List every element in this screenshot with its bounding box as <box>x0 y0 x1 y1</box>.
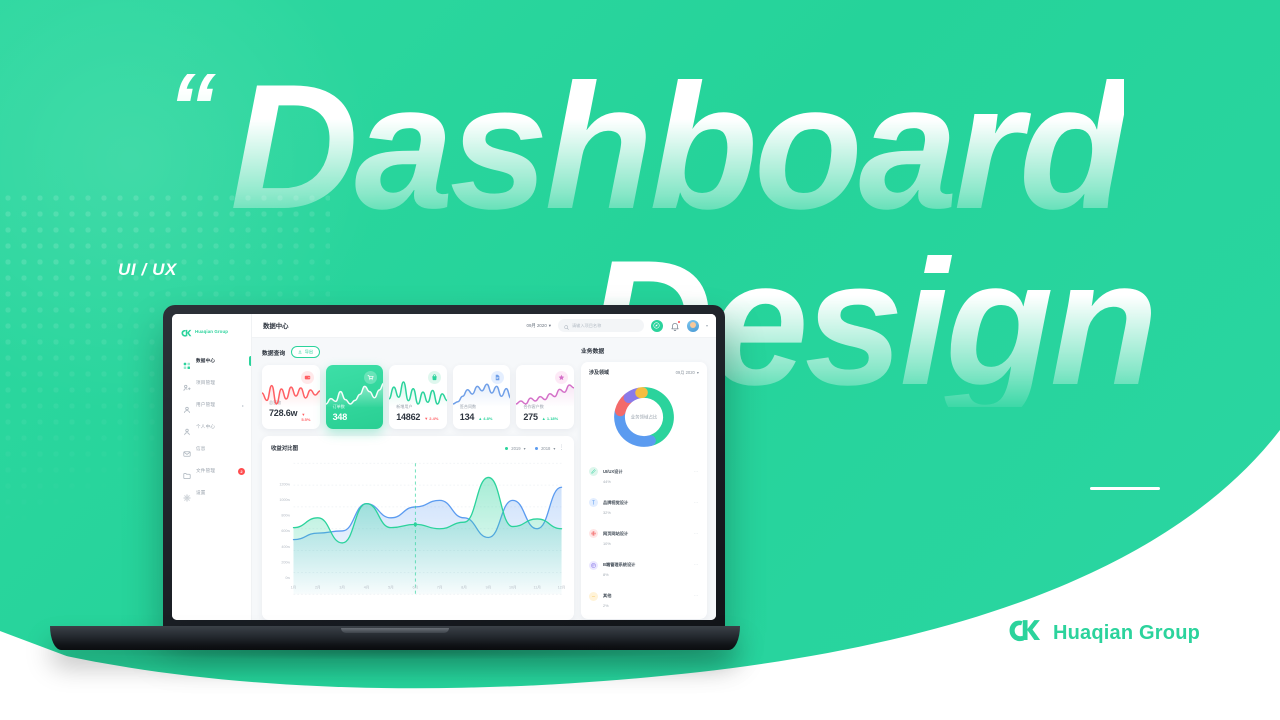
eyebrow-label: UI / UX <box>118 260 177 280</box>
domain-legend-meta: 网页网站设计 10% <box>603 522 628 546</box>
kpi-footer: 签合同数 134 ▲ 4.8% <box>460 404 504 429</box>
date-selector-label: 09月 2020 <box>527 323 547 329</box>
ellipsis-icon[interactable]: ⋯ <box>694 531 699 537</box>
person-icon <box>183 423 191 431</box>
domain-legend-list: UI/UX设计 44% ⋯ 品牌视觉设计 32% ⋯ 网页网站设计 10% ⋯ … <box>589 456 699 612</box>
brand-name: Huaqian Group <box>1053 622 1200 645</box>
search-icon <box>564 317 569 335</box>
domain-card-header: 涉及领域 09月 2020 ▾ <box>589 369 699 376</box>
laptop-lid: Huaqian Group 数据中心项目管理用户管理▸个人中心信息文件管理2设置… <box>163 305 725 630</box>
domain-legend-percent: 44% <box>603 479 623 484</box>
domain-legend-label: 品牌视觉设计 <box>603 500 628 505</box>
right-panel-title: 业务数据 <box>581 346 707 355</box>
domain-card-date-selector[interactable]: 09月 2020 ▾ <box>676 370 699 376</box>
domain-card-date-label: 09月 2020 <box>676 370 695 376</box>
kpi-sparkline <box>262 379 320 407</box>
svg-text:0w: 0w <box>285 576 290 580</box>
sidebar-item-1[interactable]: 数据中心 <box>172 350 251 372</box>
sidebar-item-7[interactable]: 设置 <box>172 482 251 504</box>
sidebar-badge: 2 <box>238 468 245 475</box>
mail-icon <box>183 445 191 453</box>
domain-legend-percent: 2% <box>603 603 611 608</box>
kpi-value: 14862 <box>396 412 420 422</box>
domain-legend-label: 其他 <box>603 593 611 598</box>
sidebar-nav: 数据中心项目管理用户管理▸个人中心信息文件管理2设置 <box>172 350 251 504</box>
system-icon <box>589 561 598 570</box>
web-icon <box>589 529 598 538</box>
export-button-label: 导出 <box>305 349 313 355</box>
kpi-value-row: 134 ▲ 4.8% <box>460 412 504 422</box>
svg-text:11月: 11月 <box>533 585 540 590</box>
grid-icon <box>183 357 191 365</box>
export-icon <box>298 350 302 355</box>
svg-text:1000w: 1000w <box>279 498 290 502</box>
domain-legend-percent: 10% <box>603 541 628 546</box>
sidebar-item-label: 用户管理 <box>196 402 215 408</box>
kpi-card-5[interactable]: 合作客户数 275 ▲ 1.18% <box>516 365 574 429</box>
legend-label: 2018 <box>541 446 550 451</box>
domain-legend-label: 网页网站设计 <box>603 531 628 536</box>
ellipsis-icon[interactable]: ⋯ <box>694 593 699 599</box>
ck-logo-icon <box>181 326 192 336</box>
kpi-footer: 新增用户 14862 ▼ 2.4% <box>396 404 440 429</box>
app-main: 数据中心 09月 2020 ▾ 请输入项目名称 <box>252 314 716 620</box>
chart-title: 收益对比图 <box>271 444 298 452</box>
kpi-value: 348 <box>333 412 347 422</box>
svg-text:7月: 7月 <box>437 585 443 590</box>
kpi-value: 134 <box>460 412 474 422</box>
ellipsis-icon[interactable]: ⋯ <box>694 500 699 506</box>
svg-text:9月: 9月 <box>486 585 492 590</box>
date-selector[interactable]: 09月 2020 ▾ <box>527 323 551 329</box>
ck-logo-icon <box>1008 618 1042 648</box>
svg-text:12月: 12月 <box>558 585 565 590</box>
active-indicator <box>249 356 252 366</box>
legend-swatch <box>505 447 508 450</box>
svg-text:10月: 10月 <box>509 585 517 590</box>
domain-legend-meta: UI/UX设计 44% <box>603 460 623 484</box>
chevron-right-icon: ▸ <box>242 403 244 408</box>
app-sidebar: Huaqian Group 数据中心项目管理用户管理▸个人中心信息文件管理2设置 <box>172 314 252 620</box>
kpi-value-row: 728.6w ▼ 5.5% <box>269 408 313 422</box>
domain-legend-percent: 8% <box>603 572 635 577</box>
pen-icon <box>589 467 598 476</box>
revenue-chart-card: 收益对比图 2019▾2018▾ ⋮ 0w200w400w600w800w100… <box>262 436 574 620</box>
domain-card-title: 涉及领域 <box>589 369 609 376</box>
svg-text:2月: 2月 <box>315 585 321 590</box>
sidebar-item-2[interactable]: 项目管理 <box>172 372 251 394</box>
domain-legend-row-2[interactable]: 品牌视觉设计 32% ⋯ <box>589 487 699 518</box>
app-logo[interactable]: Huaqian Group <box>172 323 251 350</box>
sidebar-item-label: 数据中心 <box>196 358 215 364</box>
domain-legend-label: B端管理系统设计 <box>603 562 635 567</box>
brand-icon <box>589 498 598 507</box>
domain-legend-meta: B端管理系统设计 8% <box>603 553 635 577</box>
chart-header: 收益对比图 2019▾2018▾ ⋮ <box>271 444 565 452</box>
domain-legend-row-3[interactable]: 网页网站设计 10% ⋯ <box>589 518 699 549</box>
laptop-mockup: Huaqian Group 数据中心项目管理用户管理▸个人中心信息文件管理2设置… <box>50 305 740 650</box>
kpi-card-1[interactable]: 总营收 728.6w ▼ 5.5% <box>262 365 320 429</box>
kpi-value-row: 275 ▲ 1.18% <box>523 412 567 422</box>
left-column: 数据查询 导出 总营收 <box>262 346 574 620</box>
chart-legend: 2019▾2018▾ <box>505 446 556 451</box>
chevron-down-icon: ▾ <box>549 323 551 329</box>
kpi-card-4[interactable]: 签合同数 134 ▲ 4.8% <box>453 365 511 429</box>
kpi-value-row: 14862 ▼ 2.4% <box>396 412 440 422</box>
brand-lockup: Huaqian Group <box>1008 618 1200 648</box>
domain-legend-label: UI/UX设计 <box>603 469 623 474</box>
ellipsis-icon[interactable]: ⋯ <box>694 562 699 568</box>
chevron-down-icon[interactable]: ▾ <box>706 323 708 328</box>
domain-legend-row-1[interactable]: UI/UX设计 44% ⋯ <box>589 456 699 487</box>
domain-legend-row-4[interactable]: B端管理系统设计 8% ⋯ <box>589 550 699 581</box>
app-content: 数据查询 导出 总营收 <box>252 338 716 620</box>
more-icon <box>589 592 598 601</box>
sidebar-item-label: 设置 <box>196 490 206 496</box>
domain-share-card: 涉及领域 09月 2020 ▾ 业务领域占比 UI/UX设计 44% <box>581 362 707 619</box>
svg-text:1200w: 1200w <box>279 483 290 487</box>
chart-legend-item-2[interactable]: 2018▾ <box>535 446 556 451</box>
kpi-sparkline <box>453 379 511 407</box>
svg-text:600w: 600w <box>281 530 290 534</box>
svg-text:4月: 4月 <box>364 585 370 590</box>
query-section-header: 数据查询 导出 <box>262 346 574 358</box>
folder-icon <box>183 467 191 475</box>
kpi-sparkline <box>389 379 447 407</box>
domain-legend-meta: 品牌视觉设计 32% <box>603 491 628 515</box>
section-title: 数据查询 <box>262 348 285 357</box>
chart-plot-area: 0w200w400w600w800w1000w1200w1月2月3月4月5月6月… <box>271 456 565 614</box>
chevron-down-icon: ▾ <box>697 370 699 375</box>
svg-text:业务领域占比: 业务领域占比 <box>631 414 658 421</box>
app-topbar: 数据中心 09月 2020 ▾ 请输入项目名称 <box>252 314 716 338</box>
domain-legend-percent: 32% <box>603 510 628 515</box>
kpi-card-2[interactable]: 订单数 348 <box>326 365 384 429</box>
sidebar-item-label: 个人中心 <box>196 424 215 430</box>
domain-legend-row-5[interactable]: 其他 2% ⋯ <box>589 581 699 612</box>
legend-label: 2019 <box>511 446 520 451</box>
project-icon <box>183 379 191 387</box>
kpi-card-list: 总营收 728.6w ▼ 5.5% 订单数 348 <box>262 365 574 429</box>
dashboard-screen: Huaqian Group 数据中心项目管理用户管理▸个人中心信息文件管理2设置… <box>172 314 716 620</box>
svg-text:3月: 3月 <box>339 585 345 590</box>
kpi-delta: ▲ 4.8% <box>478 416 492 421</box>
svg-text:8月: 8月 <box>461 585 467 590</box>
sidebar-item-3[interactable]: 用户管理▸ <box>172 394 251 416</box>
svg-text:1月: 1月 <box>291 585 297 590</box>
svg-text:800w: 800w <box>281 514 290 518</box>
sidebar-item-label: 项目管理 <box>196 380 215 386</box>
quote-mark: “ <box>168 62 216 153</box>
bell-icon[interactable] <box>670 320 680 332</box>
donut-chart: 业务领域占比 <box>589 376 699 456</box>
kpi-sparkline <box>516 379 574 407</box>
svg-text:400w: 400w <box>281 545 290 549</box>
sidebar-item-label: 信息 <box>196 446 206 452</box>
chart-legend-item-1[interactable]: 2019▾ <box>505 446 526 451</box>
kpi-delta: ▼ 2.4% <box>424 416 438 421</box>
kpi-footer: 合作客户数 275 ▲ 1.18% <box>523 404 567 429</box>
laptop-shadow <box>66 642 724 660</box>
headline-line-1: Dashboard <box>230 62 1124 231</box>
page-title: 数据中心 <box>263 321 289 330</box>
sidebar-item-4[interactable]: 个人中心 <box>172 416 251 438</box>
app-logo-text: Huaqian Group <box>195 329 228 334</box>
user-icon <box>183 401 191 409</box>
kpi-footer: 订单数 348 <box>333 404 377 429</box>
sidebar-item-6[interactable]: 文件管理2 <box>172 460 251 482</box>
search-placeholder: 请输入项目名称 <box>572 323 601 329</box>
export-button[interactable]: 导出 <box>291 346 320 358</box>
svg-text:5月: 5月 <box>388 585 394 590</box>
sidebar-item-5[interactable]: 信息 <box>172 438 251 460</box>
notification-dot <box>677 320 681 324</box>
gear-icon <box>183 489 191 497</box>
kpi-value-row: 348 <box>333 412 377 422</box>
chevron-down-icon: ▾ <box>553 446 555 451</box>
kpi-value: 275 <box>523 412 537 422</box>
sidebar-item-label: 文件管理 <box>196 468 215 474</box>
right-column: 业务数据 涉及领域 09月 2020 ▾ 业务领域占比 <box>581 346 707 620</box>
ellipsis-icon[interactable]: ⋮ <box>559 445 566 451</box>
topbar-actions: 09月 2020 ▾ 请输入项目名称 <box>527 319 709 332</box>
compass-icon[interactable] <box>651 320 663 332</box>
search-input[interactable]: 请输入项目名称 <box>558 319 644 332</box>
ellipsis-icon[interactable]: ⋯ <box>694 469 699 475</box>
legend-swatch <box>535 447 538 450</box>
svg-text:200w: 200w <box>281 561 290 565</box>
chevron-down-icon: ▾ <box>524 446 526 451</box>
kpi-sparkline <box>326 379 384 407</box>
domain-legend-meta: 其他 2% <box>603 584 611 608</box>
kpi-delta: ▲ 1.18% <box>542 416 558 421</box>
kpi-delta: ▼ 5.5% <box>301 412 312 422</box>
decorative-rule <box>1090 487 1160 490</box>
kpi-value: 728.6w <box>269 408 297 418</box>
avatar[interactable] <box>687 320 699 332</box>
kpi-card-3[interactable]: 新增用户 14862 ▼ 2.4% <box>389 365 447 429</box>
svg-text:6月: 6月 <box>412 585 418 590</box>
